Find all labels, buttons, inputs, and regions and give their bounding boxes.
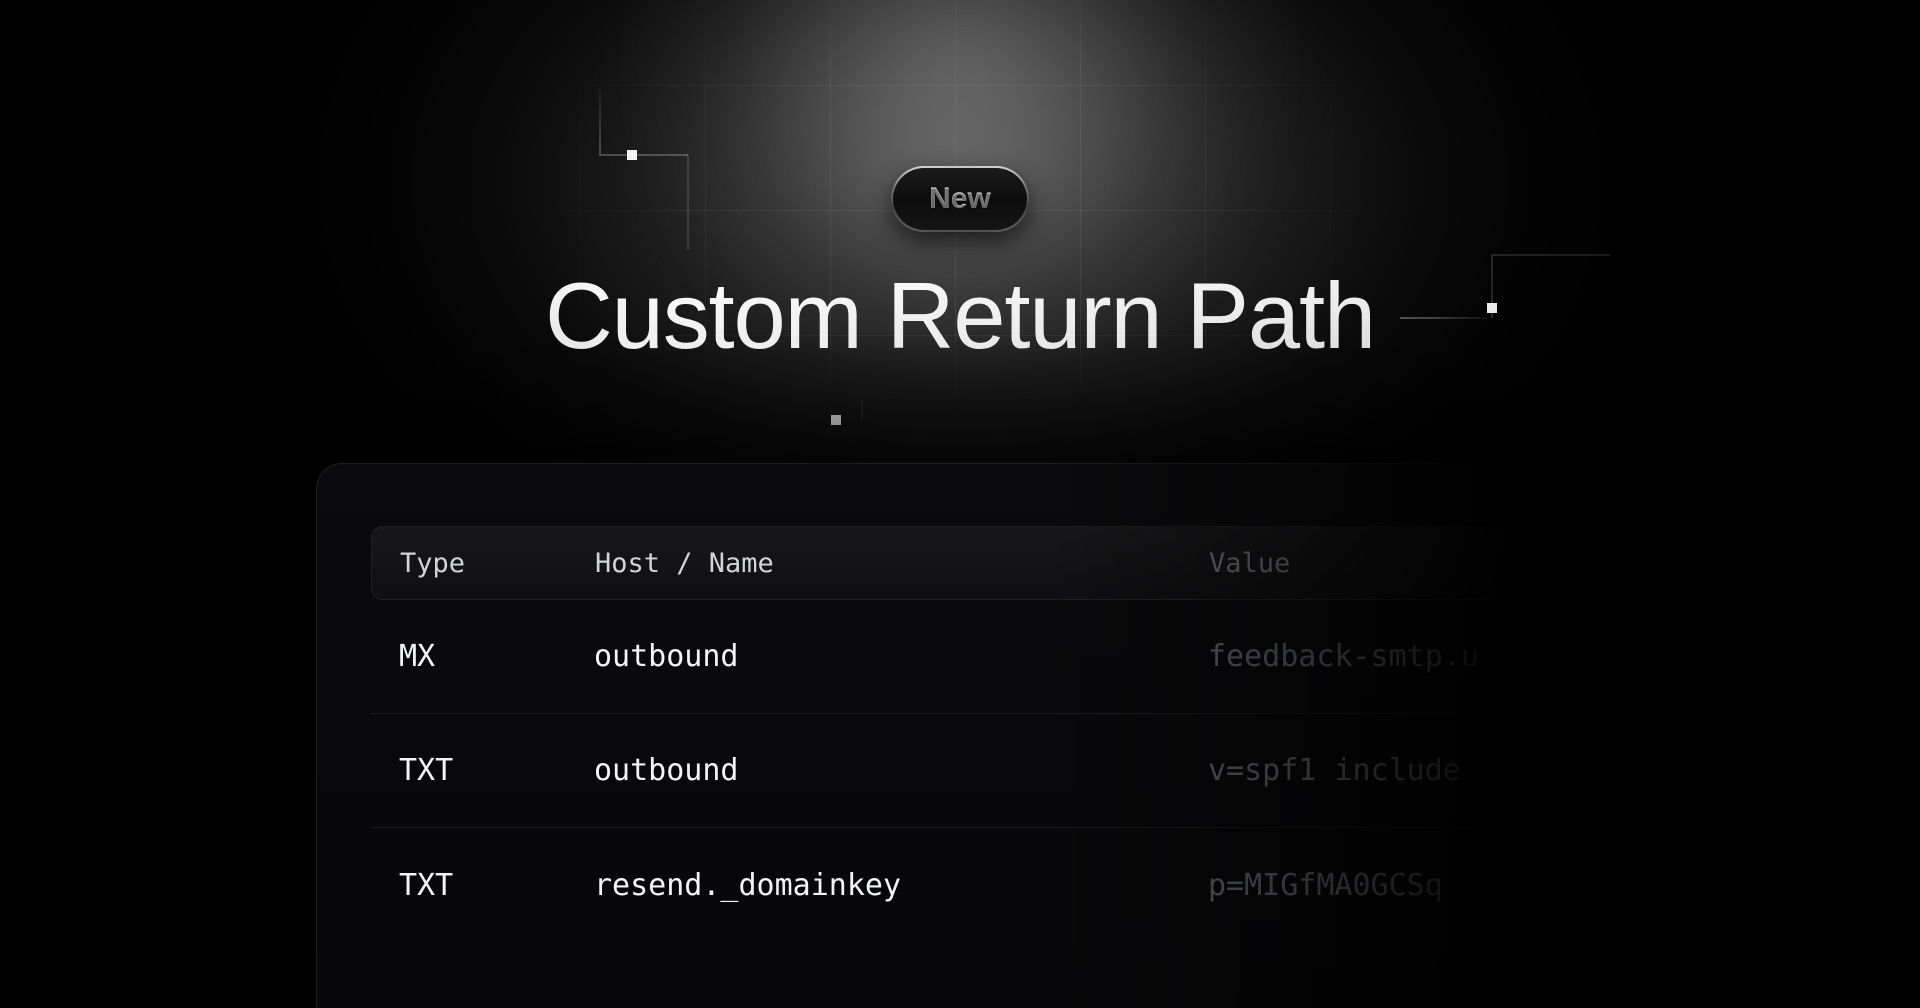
- cell-value: feedback-smtp.u: [1208, 639, 1531, 674]
- dns-records-table: Type Host / Name Value MX outbound feedb…: [371, 526, 1531, 942]
- cell-type: TXT: [399, 868, 594, 903]
- dns-records-card: Type Host / Name Value MX outbound feedb…: [316, 463, 1531, 1008]
- cell-type: MX: [399, 639, 594, 674]
- cell-host: outbound: [594, 639, 1208, 674]
- column-header-value: Value: [1209, 548, 1531, 579]
- cell-host: resend._domainkey: [594, 868, 1208, 903]
- table-row[interactable]: TXT resend._domainkey p=MIGfMA0GCSq: [371, 828, 1531, 942]
- cell-value: p=MIGfMA0GCSq: [1208, 868, 1531, 903]
- cell-value: v=spf1 include: [1208, 753, 1531, 788]
- cell-type: TXT: [399, 753, 594, 788]
- table-row[interactable]: MX outbound feedback-smtp.u: [371, 600, 1531, 714]
- new-badge: New: [893, 168, 1027, 230]
- new-badge-pill: New: [893, 168, 1027, 230]
- table-header-row: Type Host / Name Value: [371, 526, 1531, 600]
- page-title: Custom Return Path: [0, 264, 1920, 367]
- column-header-host: Host / Name: [595, 548, 1209, 579]
- new-badge-label: New: [929, 182, 991, 216]
- column-header-type: Type: [400, 548, 595, 579]
- table-row[interactable]: TXT outbound v=spf1 include: [371, 714, 1531, 828]
- hero-banner: New Custom Return Path Custom Return Pat…: [0, 0, 1920, 1008]
- cell-host: outbound: [594, 753, 1208, 788]
